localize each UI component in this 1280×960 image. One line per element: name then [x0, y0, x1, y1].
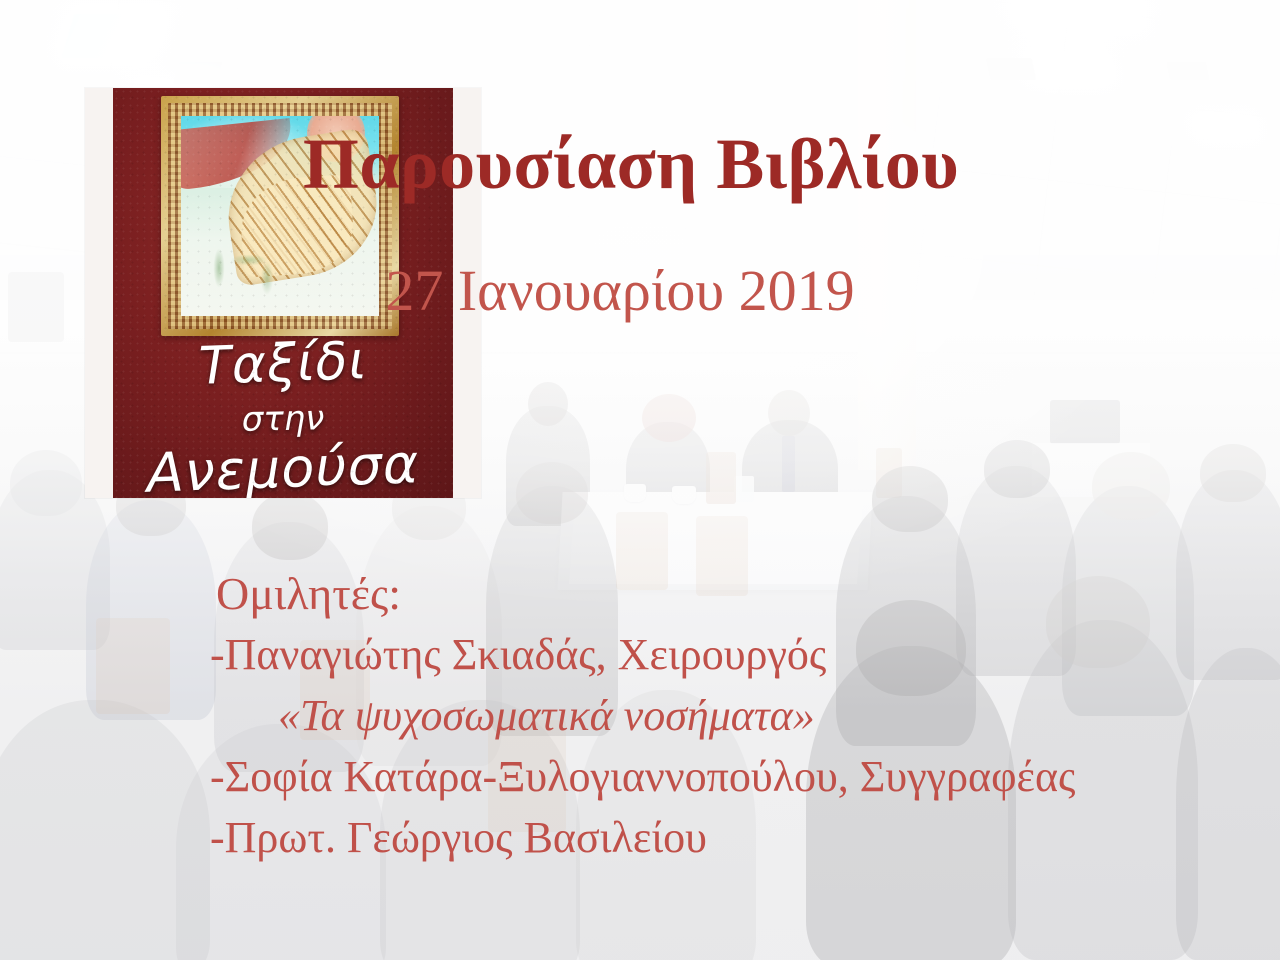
poster-canvas: Ταξίδι στην Ανεμούσα Παρουσίαση Βιβλίου …	[0, 0, 1280, 960]
event-date: 27 Ιανουαρίου 2019	[0, 262, 1280, 320]
book-title-line-2: στην	[113, 399, 454, 439]
book-title-line-1: Ταξίδι	[112, 332, 454, 396]
speaker-name-2: -Σοφία Κατάρα-Ξυλογιαννοπούλου, Συγγραφέ…	[210, 751, 1206, 804]
speaker-topic-1: «Τα ψυχοσωματικά νοσήματα»	[278, 690, 1206, 743]
speakers-heading: Ομιλητές:	[216, 566, 1206, 621]
speaker-name-1: -Παναγιώτης Σκιαδάς, Χειρουργός	[210, 629, 1206, 682]
book-title-block: Ταξίδι στην Ανεμούσα	[113, 338, 453, 496]
speakers-block: Ομιλητές: -Παναγιώτης Σκιαδάς, Χειρουργό…	[216, 566, 1206, 864]
speaker-name-3: -Πρωτ. Γεώργιος Βασιλείου	[210, 812, 1206, 865]
book-title-line-3: Ανεμούσα	[112, 436, 454, 498]
page-title: Παρουσίαση Βιβλίου	[0, 128, 1280, 200]
